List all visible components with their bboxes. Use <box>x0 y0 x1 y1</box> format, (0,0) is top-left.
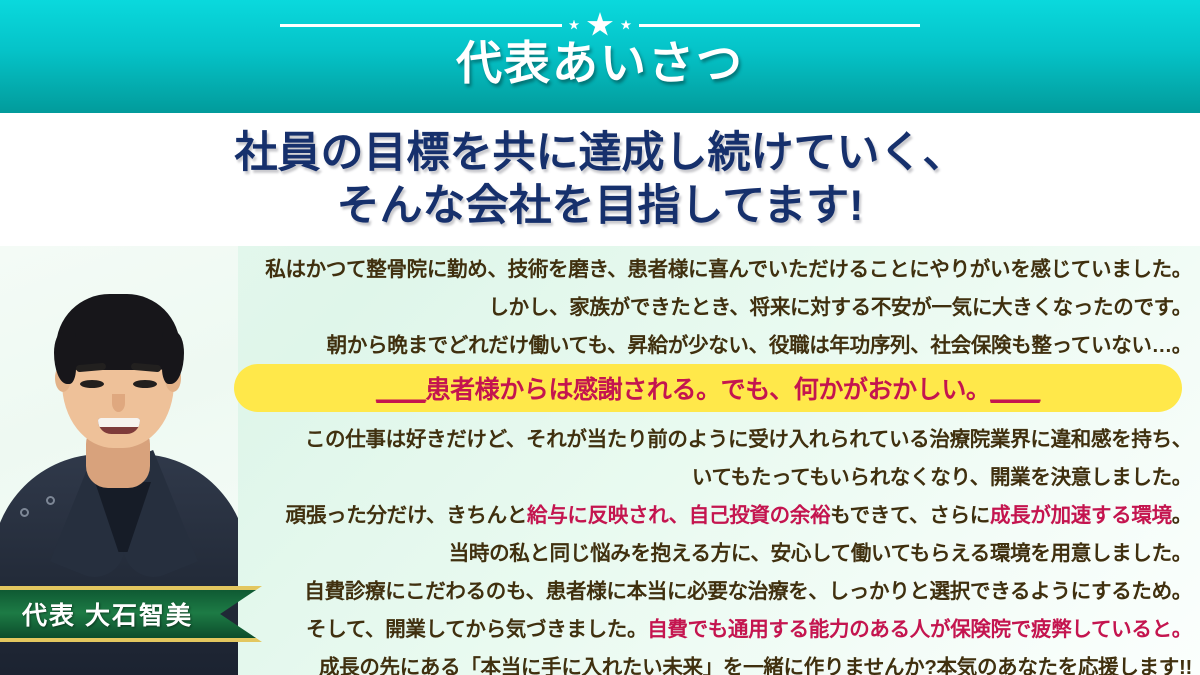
representative-name: 代表 大石智美 <box>0 596 193 632</box>
divider-rule-left <box>280 24 562 27</box>
body-line-3: 朝から晩までどれだけ働いても、昇給が少ない、役職は年功序列、社会保険も整っていな… <box>327 336 1192 357</box>
photo-snap-button-2 <box>20 508 29 517</box>
photo-mouth <box>98 418 140 434</box>
body-line-7: 当時の私と同じ悩みを抱える方に、安心して働いてもらえる環境を用意しました。 <box>449 544 1192 565</box>
body-line-6: 頑張った分だけ、きちんと給与に反映され、自己投資の余裕もできて、さらに成長が加速… <box>286 506 1192 527</box>
header-band: 代表あいさつ <box>0 0 1200 113</box>
photo-eye-left <box>80 380 104 388</box>
headline-band: 社員の目標を共に達成し続けていく、 そんな会社を目指してます! <box>0 113 1200 246</box>
headline-line-2: そんな会社を目指してます! <box>337 180 864 232</box>
body-line-9: そして、開業してから気づきました。自費でも通用する能力のある人が保険院で疲弊して… <box>306 620 1192 641</box>
body-line-9-seg-2-accent: 自費でも通用する能力のある人が保険院で疲弊していると。 <box>647 618 1192 641</box>
photo-teeth <box>98 418 140 427</box>
body-line-6-seg-2-accent: 給与に反映され、自己投資の余裕 <box>527 504 830 527</box>
headline-line-1: 社員の目標を共に達成し続けていく、 <box>235 127 966 179</box>
header-title: 代表あいさつ <box>456 38 744 89</box>
highlight-underline-left: ＿＿ <box>376 376 425 404</box>
highlight-underline-right: ＿＿ <box>991 376 1040 404</box>
star-small-right-icon <box>621 20 632 31</box>
star-big-icon <box>587 12 614 38</box>
slide-root: 代表あいさつ 社員の目標を共に達成し続けていく、 そんな会社を目指してます! <box>0 0 1200 675</box>
highlight-main-text: 患者様からは感謝される。でも、何かがおかしい。 <box>425 376 990 404</box>
body-line-6-seg-3: もできて、さらに <box>830 504 990 527</box>
photo-eye-right <box>133 380 157 388</box>
highlight-callout-bar: ＿＿患者様からは感謝される。でも、何かがおかしい。＿＿ <box>234 364 1182 412</box>
photo-snap-button-1 <box>46 496 55 505</box>
photo-nose <box>112 394 125 412</box>
body-text-block: 私はかつて整骨院に勤め、技術を磨き、患者様に喜んでいただけることにやりがいを感じ… <box>200 252 1200 672</box>
body-line-6-seg-5: 。 <box>1172 504 1192 527</box>
highlight-callout-text: ＿＿患者様からは感謝される。でも、何かがおかしい。＿＿ <box>376 370 1039 406</box>
body-line-10-accent: 成長の先にある「本当に手に入れたい未来」を一緒に作りませんか?本気のあなたを応援… <box>319 658 1192 675</box>
body-line-6-seg-4-accent: 成長が加速する環境 <box>990 504 1172 527</box>
body-line-9-seg-1: そして、開業してから気づきました。 <box>306 618 647 641</box>
body-line-6-seg-1: 頑張った分だけ、きちんと <box>286 504 527 527</box>
star-small-left-icon <box>569 20 580 31</box>
body-line-8: 自費診療にこだわるのも、患者様に本当に必要な治療を、しっかりと選択できるようにす… <box>304 582 1192 603</box>
body-line-2: しかし、家族ができたとき、将来に対する不安が一気に大きくなったのです。 <box>488 298 1192 319</box>
body-line-1: 私はかつて整骨院に勤め、技術を磨き、患者様に喜んでいただけることにやりがいを感じ… <box>265 260 1192 281</box>
divider-rule-right <box>639 24 921 27</box>
body-line-5: いてもたってもいられなくなり、開業を決意しました。 <box>692 468 1192 489</box>
star-divider <box>280 14 920 36</box>
body-line-4: この仕事は好きだけど、それが当たり前のように受け入れられている治療院業界に違和感… <box>305 430 1192 451</box>
